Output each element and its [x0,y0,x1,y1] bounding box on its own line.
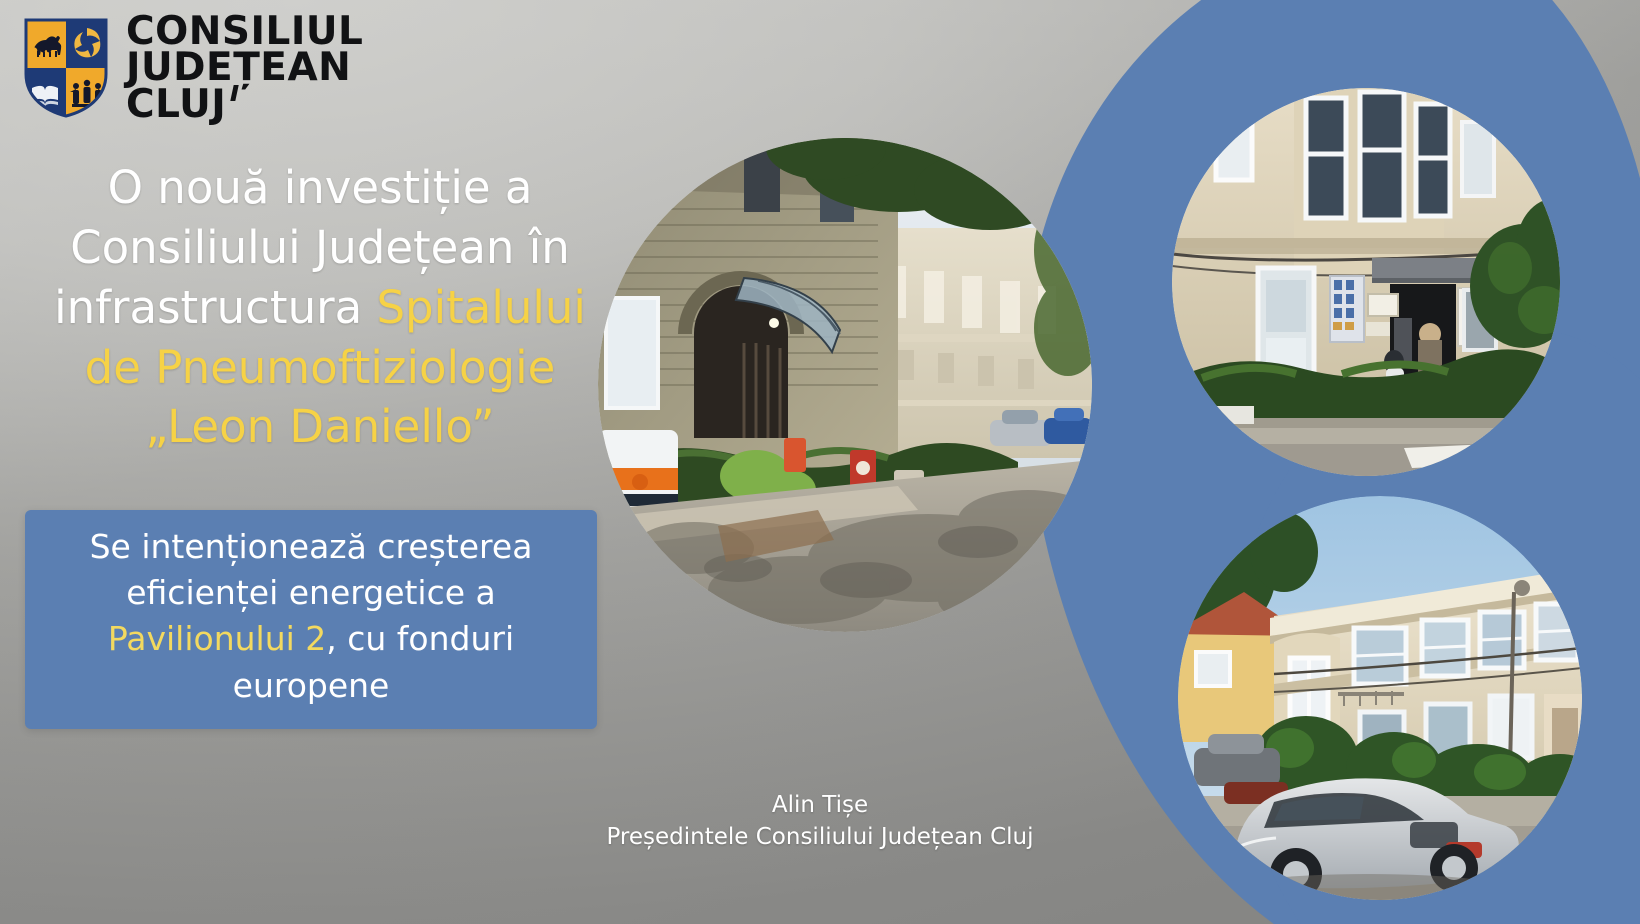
logo-line-3: CLUJ [126,82,226,127]
three-figures-icon [70,80,104,107]
coat-of-arms-shield-icon [24,18,108,118]
consiliul-judetean-cluj-logo: CONSILIUL JUDEȚEAN CLUJ [24,14,363,123]
logo-wordmark: CONSILIUL JUDEȚEAN CLUJ [126,14,363,123]
logo-accent-mark [231,85,239,101]
logo-line-3-wrap: CLUJ [126,87,363,123]
photo-hospital-pavilion-corner [1172,88,1560,476]
presentation-slide: CONSILIUL JUDEȚEAN CLUJ O nouă investiți… [0,0,1640,924]
speaker-role: Președintele Consiliului Județean Cluj [0,822,1640,854]
page-title: O nouă investiție a Consiliului Județean… [40,158,600,457]
speaker-credit: Alin Tișe Președintele Consiliului Județ… [0,790,1640,853]
subtitle-part-accent: Pavilionului 2 [108,619,326,658]
speaker-name: Alin Tișe [0,790,1640,822]
photo-hospital-main-entrance [598,138,1092,632]
subtitle-part-1: Se intenționează creșterea eficienței en… [90,527,533,612]
subtitle-callout-card: Se intenționează creșterea eficienței en… [25,510,597,729]
